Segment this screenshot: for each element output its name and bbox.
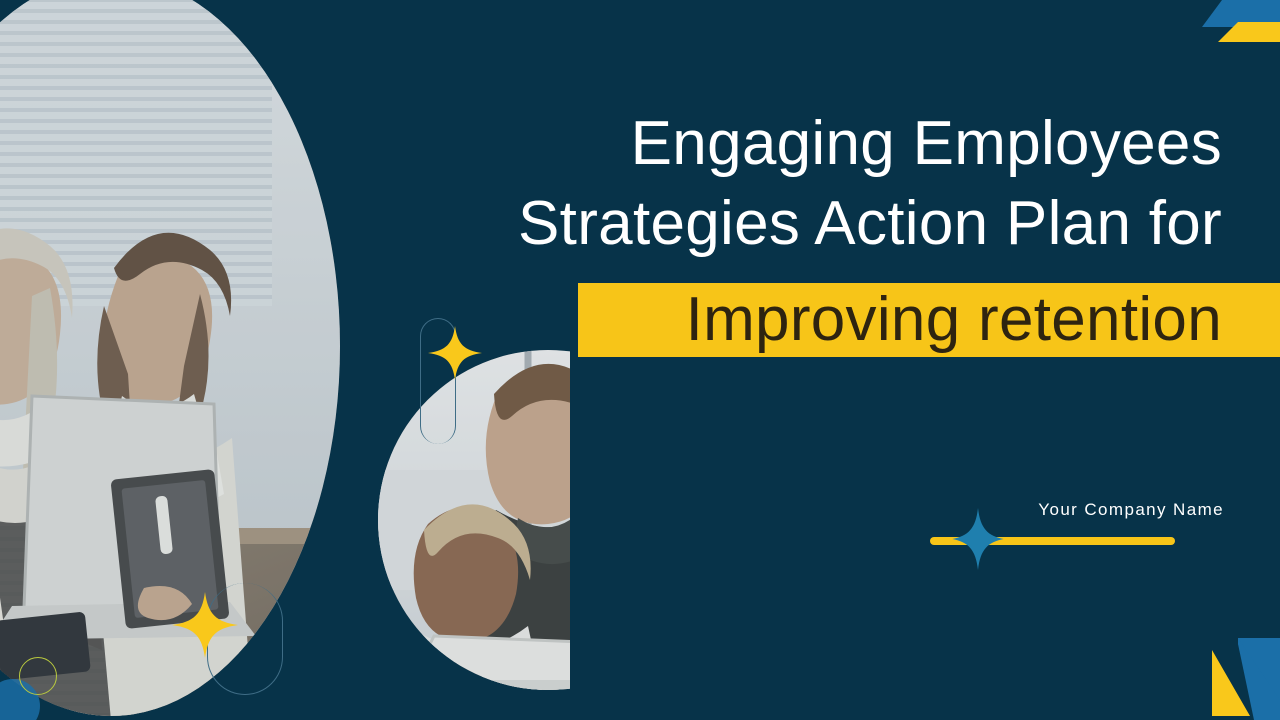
title-line-1: Engaging Employees — [420, 104, 1222, 184]
company-name-label: Your Company Name — [900, 500, 1224, 520]
presentation-slide: Engaging Employees Strategies Action Pla… — [0, 0, 1280, 720]
secondary-photo — [378, 350, 570, 690]
slide-title: Engaging Employees Strategies Action Pla… — [420, 104, 1222, 264]
sparkle-star-icon-small — [428, 326, 482, 380]
corner-decor-bottom-right — [1198, 638, 1280, 720]
title-highlight-text: Improving retention — [578, 283, 1222, 357]
corner-decor-top-right — [1200, 0, 1280, 46]
company-sparkle-star-icon — [952, 508, 1004, 570]
sparkle-star-icon-large — [172, 592, 238, 658]
circle-outline-decor — [19, 657, 57, 695]
main-photo — [0, 0, 340, 716]
title-line-2: Strategies Action Plan for — [420, 184, 1222, 264]
